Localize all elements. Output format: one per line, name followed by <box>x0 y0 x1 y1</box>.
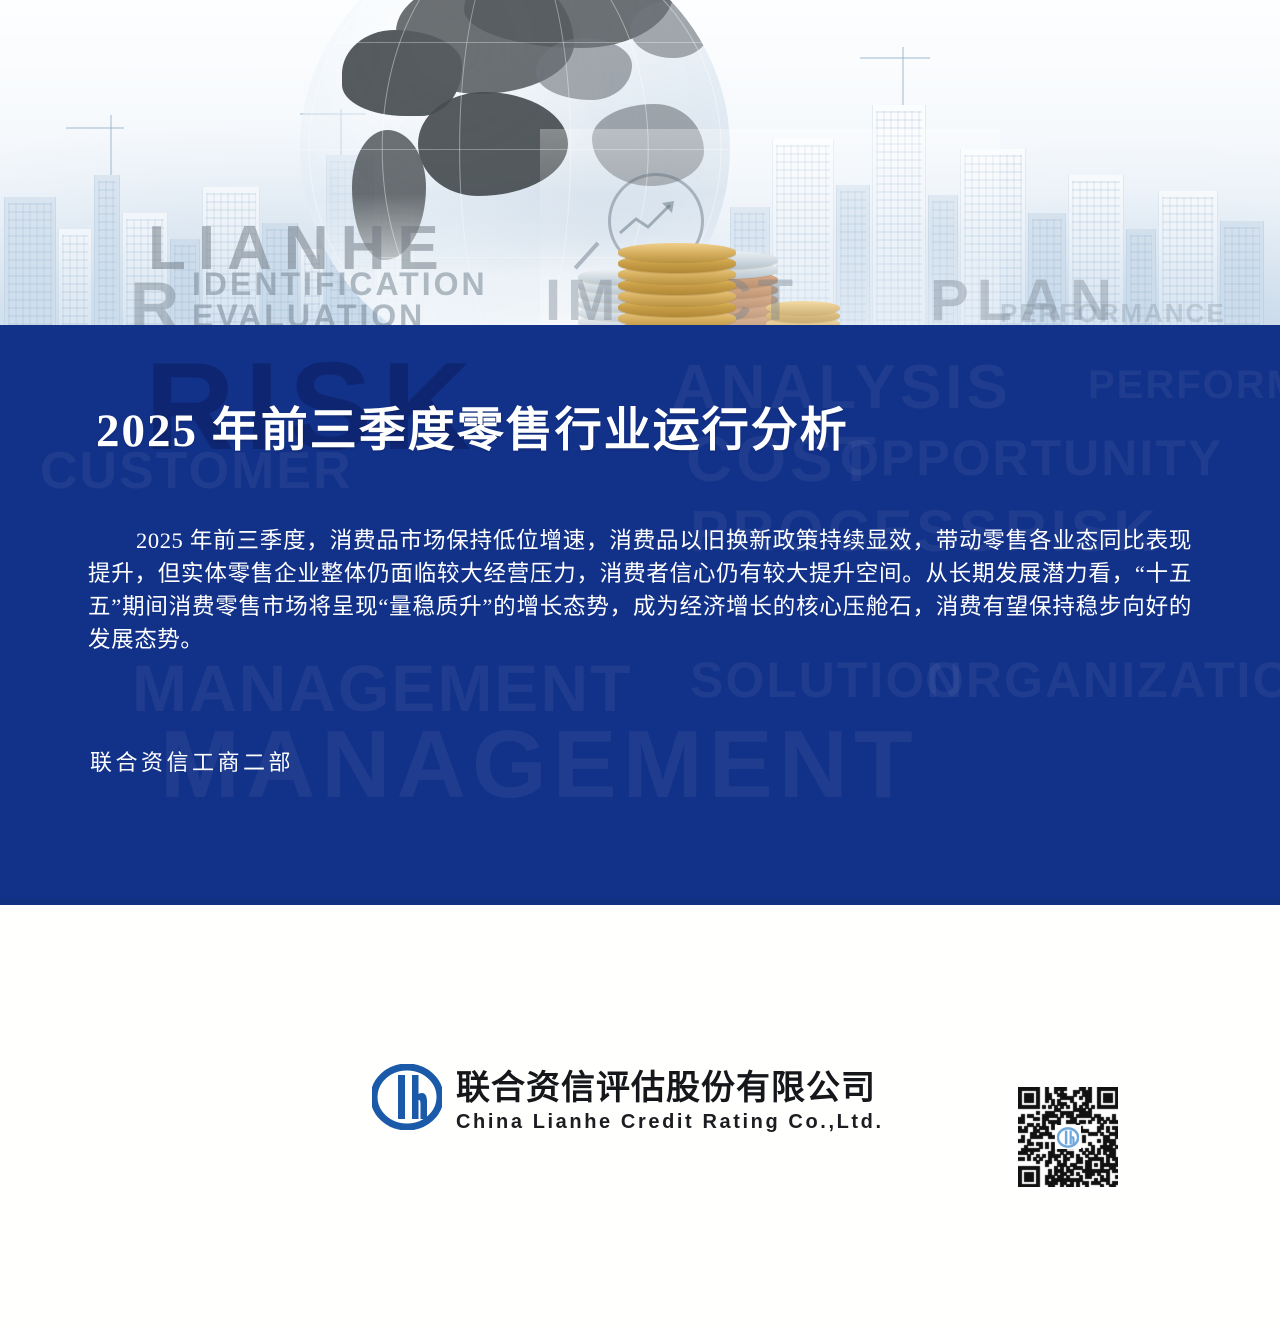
page-title: 2025 年前三季度零售行业运行分析 <box>96 403 849 459</box>
hero-banner-image: LIANHEIDENTIFICATIONEVALUATIONRIMPACTPLA… <box>0 0 1280 325</box>
company-name-group: 联合资信评估股份有限公司 China Lianhe Credit Rating … <box>456 1060 884 1134</box>
coin-stacks-graphic <box>560 139 980 325</box>
document-cover-page: LIANHEIDENTIFICATIONEVALUATIONRIMPACTPLA… <box>0 0 1280 1325</box>
abstract-paragraph: 2025 年前三季度，消费品市场保持低位增速，消费品以旧换新政策持续显效，带动零… <box>88 524 1192 656</box>
footer-area: 联合资信评估股份有限公司 China Lianhe Credit Rating … <box>0 905 1280 1325</box>
lh-monogram-icon <box>372 1064 442 1130</box>
band-watermark-word: OPPORTUNITY <box>840 433 1223 483</box>
author-department: 联合资信工商二部 <box>90 745 294 777</box>
company-name-en: China Lianhe Credit Rating Co.,Ltd. <box>456 1111 884 1134</box>
qr-code[interactable] <box>1014 1083 1122 1191</box>
band-watermark-word: SOLUTION <box>690 655 964 705</box>
qr-center-logo <box>1055 1125 1081 1149</box>
company-logo-block: 联合资信评估股份有限公司 China Lianhe Credit Rating … <box>372 1060 884 1134</box>
band-watermark-word: ORGANIZATION <box>925 655 1280 705</box>
qr-lh-monogram-icon <box>1057 1127 1079 1148</box>
band-watermark-word: MANAGEMENT <box>132 655 632 721</box>
company-name-cn: 联合资信评估股份有限公司 <box>456 1060 884 1109</box>
band-watermark-word: PERFORMANCE <box>1088 365 1280 405</box>
